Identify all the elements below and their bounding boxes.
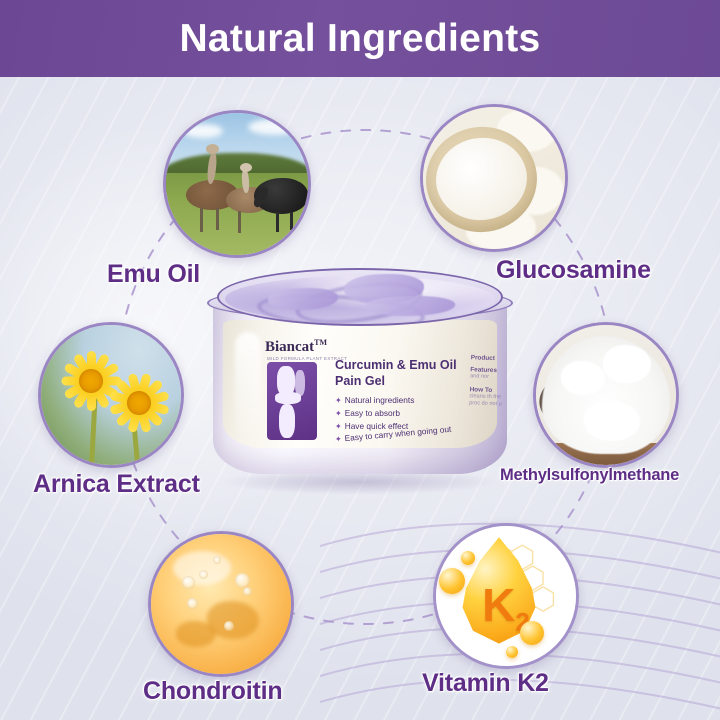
- product-title: Curcumin & Emu Oil Pain Gel: [335, 358, 485, 389]
- chondroitin-label: Chondroitin: [143, 677, 282, 706]
- bullet-drop-icon: ✦: [335, 422, 342, 431]
- emu-oil-image: [163, 110, 311, 258]
- ingredient-emu-oil[interactable]: Emu Oil: [163, 110, 311, 258]
- ingredient-arnica-extract[interactable]: Arnica Extract: [38, 322, 184, 468]
- ingredients-infographic: Natural Ingredients: [0, 0, 720, 720]
- benefit-item: ✦Easy to absorb: [335, 407, 505, 420]
- jar-highlight: [235, 332, 261, 436]
- jar-side-panel-text: Product Features and nor How To cleans t…: [469, 349, 515, 409]
- bullet-drop-icon: ✦: [335, 396, 342, 405]
- knee-joint-icon: [267, 362, 317, 440]
- ingredient-chondroitin[interactable]: Chondroitin: [148, 531, 294, 677]
- brand-name: BiancatTM: [265, 338, 327, 356]
- arnica-extract-label: Arnica Extract: [33, 470, 200, 499]
- ingredient-methylsulfonylmethane[interactable]: Methylsulfonylmethane: [533, 322, 679, 468]
- header-banner: Natural Ingredients: [0, 0, 720, 77]
- ingredient-glucosamine[interactable]: Glucosamine: [420, 104, 568, 252]
- gel-surface: [225, 276, 495, 322]
- bullet-drop-icon: ✦: [335, 435, 342, 445]
- jar-label: BiancatTM MILD FORMULA PLANT EXTRACT Cur…: [223, 320, 497, 448]
- glucosamine-image: [420, 104, 568, 252]
- methylsulfonylmethane-image: [533, 322, 679, 468]
- vitamin-k2-image: K2: [433, 523, 579, 669]
- arnica-extract-image: [38, 322, 184, 468]
- vitamin-k2-label: Vitamin K2: [422, 669, 549, 698]
- emu-oil-label: Emu Oil: [107, 260, 200, 289]
- chondroitin-image: [148, 531, 294, 677]
- methylsulfonylmethane-label: Methylsulfonylmethane: [500, 466, 679, 485]
- product-jar[interactable]: BiancatTM MILD FORMULA PLANT EXTRACT Cur…: [205, 262, 515, 487]
- ingredient-vitamin-k2[interactable]: K2 Vitamin K2: [433, 523, 579, 669]
- emu-bird-black: [254, 170, 310, 216]
- page-title: Natural Ingredients: [179, 17, 540, 61]
- glucosamine-label: Glucosamine: [496, 256, 651, 285]
- jar-opening: [217, 268, 503, 326]
- bullet-drop-icon: ✦: [335, 409, 342, 418]
